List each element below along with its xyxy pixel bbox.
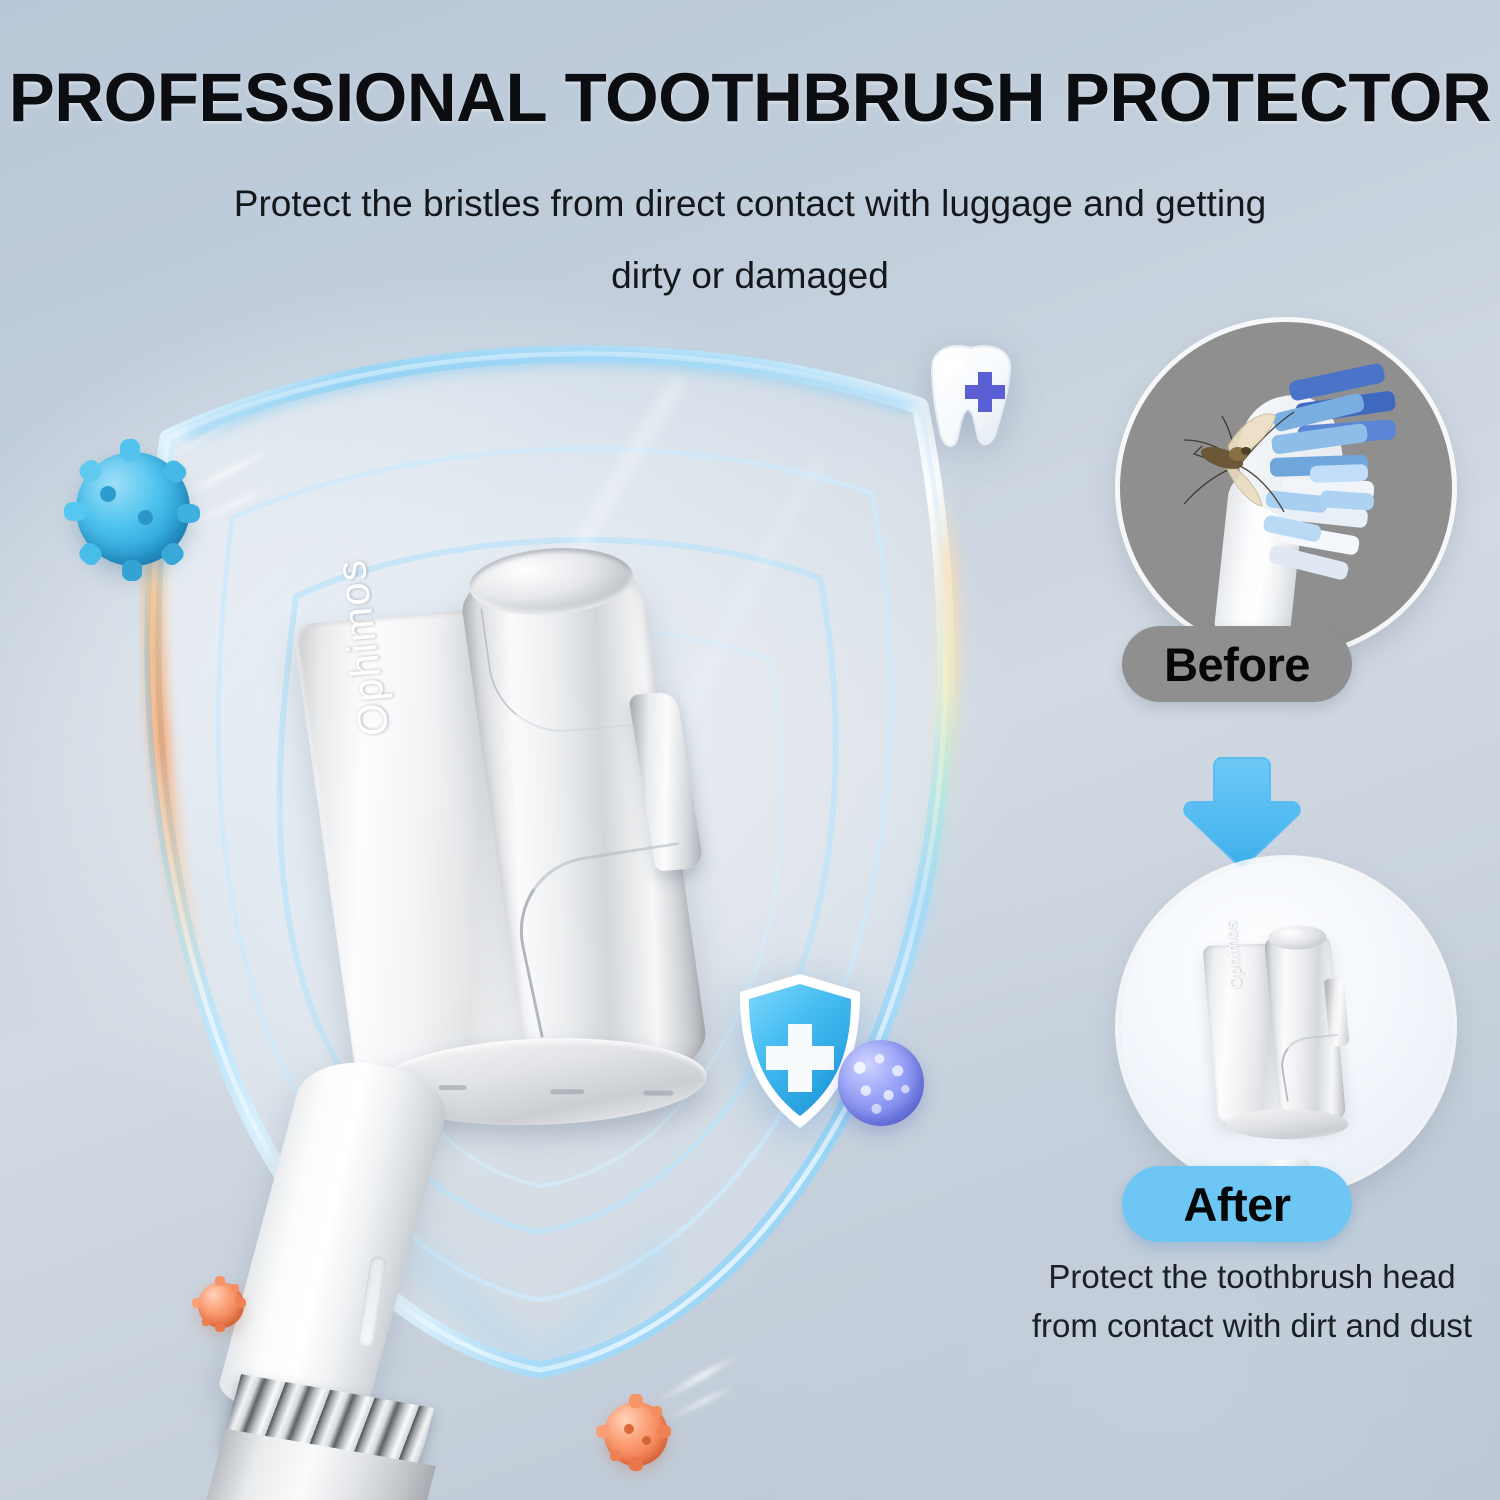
product-marketing-image: PROFESSIONAL TOOTHBRUSH PROTECTOR Protec… <box>0 0 1500 1500</box>
cap-vent <box>643 1091 673 1096</box>
mosquito-icon <box>1172 396 1322 546</box>
page-subtitle-line-1: Protect the bristles from direct contact… <box>210 168 1290 240</box>
toothbrush-neck <box>214 1052 455 1427</box>
before-label-pill: Before <box>1122 626 1352 702</box>
product-protector-cap-small: Ophimos <box>1201 919 1392 1183</box>
after-photo-circle: Ophimos <box>1120 860 1452 1192</box>
after-caption-line-1: Protect the toothbrush head <box>1012 1252 1492 1301</box>
germ-icon <box>604 1402 668 1466</box>
germ-icon <box>838 1040 924 1126</box>
page-subtitle: Protect the bristles from direct contact… <box>210 168 1290 312</box>
after-caption: Protect the toothbrush head from contact… <box>1012 1252 1492 1350</box>
germ-icon <box>76 452 190 566</box>
tooth-cross-icon <box>916 338 1026 458</box>
before-photo-circle <box>1120 322 1452 654</box>
after-caption-line-2: from contact with dirt and dust <box>1012 1301 1492 1350</box>
toothbrush-head-icon <box>1170 374 1410 636</box>
cap-vent <box>550 1089 584 1094</box>
page-subtitle-line-2: dirty or damaged <box>210 240 1290 312</box>
page-title: PROFESSIONAL TOOTHBRUSH PROTECTOR <box>0 58 1500 137</box>
arrow-down-icon <box>1176 752 1304 870</box>
motion-trail <box>155 417 237 467</box>
motion-trail <box>653 1352 740 1406</box>
germ-icon <box>198 1282 244 1328</box>
after-label-pill: After <box>1122 1166 1352 1242</box>
